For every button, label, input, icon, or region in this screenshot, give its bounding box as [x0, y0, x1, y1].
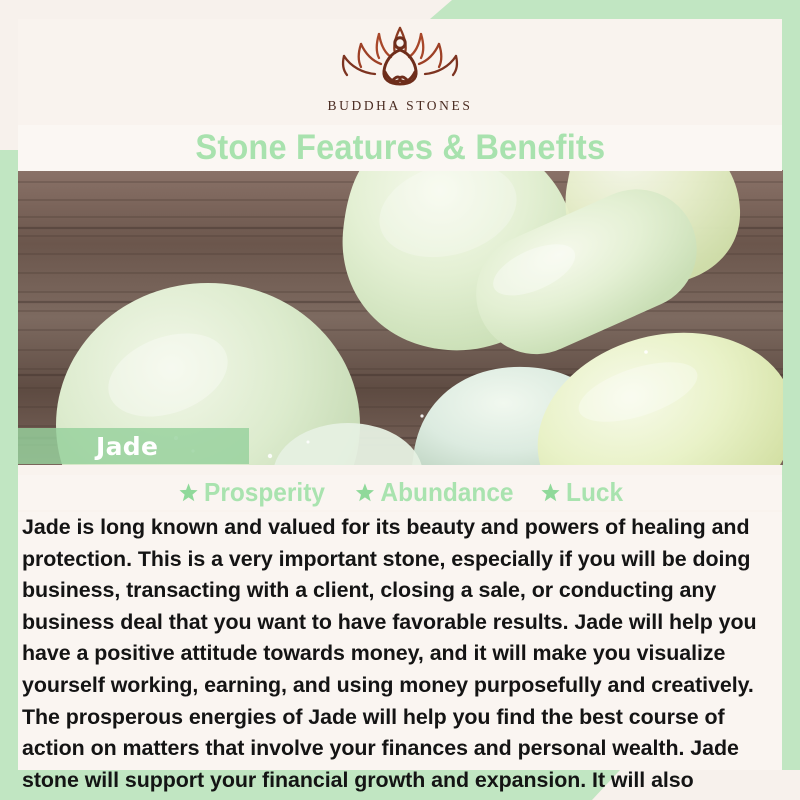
photo-illustration — [18, 170, 783, 465]
benefit-luck: Luck — [541, 477, 623, 508]
decor-left-band — [0, 150, 18, 770]
benefit-prosperity: Prosperity — [179, 477, 325, 508]
jade-stones-photo — [18, 170, 783, 465]
stone-name-badge: Jade — [18, 428, 249, 464]
benefit-abundance: Abundance — [355, 477, 513, 508]
star-icon — [179, 482, 199, 503]
benefit-label: Luck — [566, 477, 623, 508]
star-icon — [355, 482, 375, 503]
poster: BUDDHA STONES Stone Features & Benefits — [0, 0, 800, 800]
stone-name-label: Jade — [96, 432, 158, 461]
benefit-label: Prosperity — [204, 477, 325, 508]
decor-right-lower-band — [782, 460, 800, 770]
benefit-label: Abundance — [380, 477, 513, 508]
page-title: Stone Features & Benefits — [195, 128, 605, 168]
description-block: Jade is long known and valued for its be… — [18, 512, 782, 770]
benefits-row: Prosperity Abundance Luck — [18, 475, 782, 510]
lotus-meditation-icon — [325, 22, 475, 96]
brand-name: BUDDHA STONES — [328, 98, 473, 114]
description-text: Jade is long known and valued for its be… — [22, 512, 778, 800]
brand-logo: BUDDHA STONES — [0, 22, 800, 122]
headline-container: Stone Features & Benefits — [18, 125, 782, 171]
decor-top-right-band — [430, 0, 800, 19]
star-icon — [541, 482, 561, 503]
